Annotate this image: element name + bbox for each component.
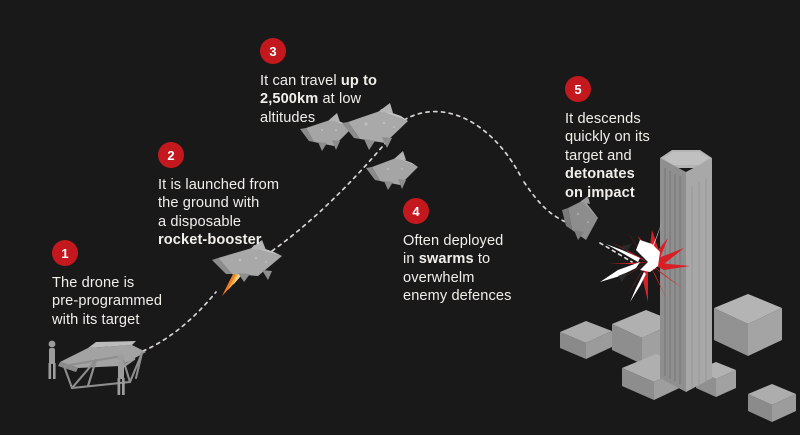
- step-2-text: It is launched from the ground with a di…: [158, 177, 279, 230]
- infographic-scene: [0, 0, 800, 435]
- drone-attack-infographic: 1 The drone is pre-programmed with its t…: [0, 0, 800, 435]
- step-caption-2: It is launched from the ground with a di…: [158, 176, 279, 250]
- step-1: 1 The drone is pre-programmed with its t…: [52, 240, 162, 329]
- step-1-text: The drone is pre-programmed with its tar…: [52, 275, 162, 328]
- step-badge-3: 3: [260, 38, 286, 64]
- target-tower: [660, 150, 712, 392]
- operator-figure: [49, 341, 56, 379]
- surrounding-building: [748, 384, 796, 422]
- step-5: 5 It descends quickly on its target and …: [565, 76, 650, 202]
- step-badge-2: 2: [158, 142, 184, 168]
- step-caption-1: The drone is pre-programmed with its tar…: [52, 274, 162, 329]
- drone-launcher-ramp: [49, 341, 147, 395]
- step-2: 2 It is launched from the ground with a …: [158, 142, 279, 250]
- swarm-drone: [366, 151, 418, 190]
- step-caption-5: It descends quickly on its target and de…: [565, 110, 650, 202]
- step-3: 3 It can travel up to 2,500km at low alt…: [260, 38, 377, 127]
- step-caption-3: It can travel up to 2,500km at low altit…: [260, 72, 377, 127]
- step-badge-4: 4: [403, 198, 429, 224]
- step-5-emphasis: detonates on impact: [565, 166, 635, 200]
- step-2-emphasis: rocket-booster: [158, 232, 262, 248]
- step-4: 4 Often deployed in swarms to overwhelm …: [403, 198, 512, 306]
- step-3-text: It can travel: [260, 73, 341, 89]
- surrounding-building: [714, 294, 782, 356]
- step-caption-4: Often deployed in swarms to overwhelm en…: [403, 232, 512, 306]
- step-badge-1: 1: [52, 240, 78, 266]
- step-4-emphasis: swarms: [419, 251, 474, 267]
- step-5-text: It descends quickly on its target and: [565, 111, 650, 164]
- descending-drone: [562, 196, 598, 240]
- surrounding-building: [560, 321, 612, 359]
- step-badge-5: 5: [565, 76, 591, 102]
